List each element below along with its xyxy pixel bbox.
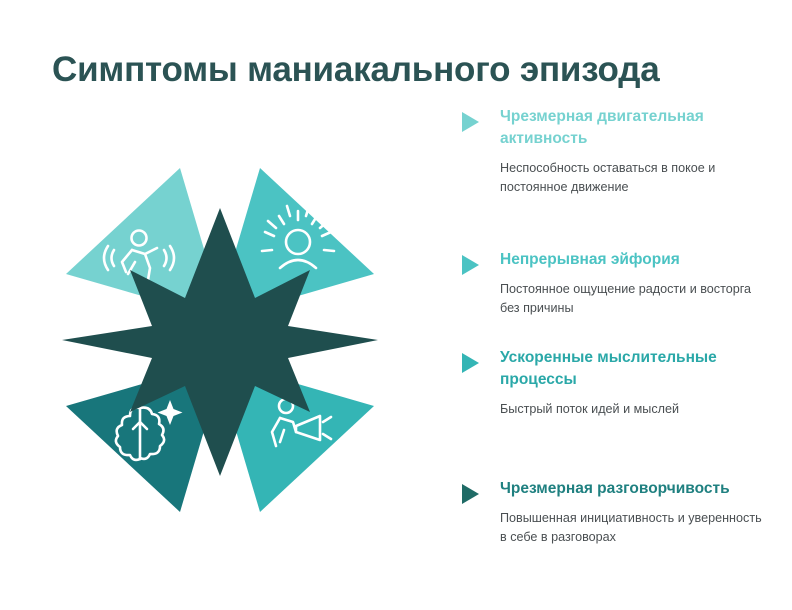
list-item-title: Чрезмерная двигательная активность [500,106,762,150]
list-item: Чрезмерная разговорчивость Повышенная ин… [462,478,762,547]
list-item-title: Ускоренные мыслительные процессы [500,347,762,391]
list-item-description: Неспособность оставаться в покое и посто… [500,159,762,197]
triangle-right-icon [462,484,479,504]
triangle-right-icon [462,112,479,132]
list-item-title: Чрезмерная разговорчивость [500,478,762,500]
list-item-description: Быстрый поток идей и мыслей [500,400,762,419]
list-item: Чрезмерная двигательная активность Неспо… [462,106,762,197]
list-item-title: Непрерывная эйфория [500,249,762,271]
list-item-description: Повышенная инициативность и уверенность … [500,509,762,547]
central-graphic [40,150,400,530]
page-title: Симптомы маниакального эпизода [52,50,762,90]
triangle-right-icon [462,255,479,275]
infographic-page: Симптомы маниакального эпизода [0,0,792,610]
list-item: Непрерывная эйфория Постоянное ощущение … [462,249,762,318]
triangle-right-icon [462,353,479,373]
list-item: Ускоренные мыслительные процессы Быстрый… [462,347,762,419]
list-item-description: Постоянное ощущение радости и восторга б… [500,280,762,318]
